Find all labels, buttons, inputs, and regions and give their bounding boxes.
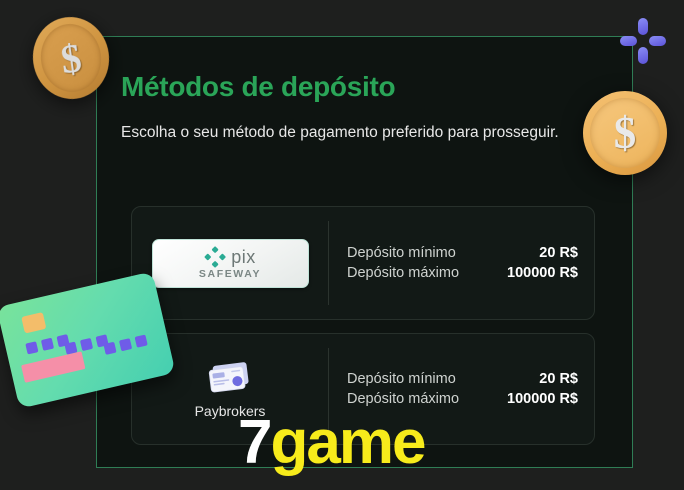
limit-value: 100000 R$: [507, 265, 578, 281]
payment-method-limits: Depósito mínimo 20 R$ Depósito máximo 10…: [347, 207, 578, 319]
limit-value: 20 R$: [539, 245, 578, 261]
sparkle-petal: [620, 36, 637, 46]
brand-watermark: 7 game: [238, 412, 424, 474]
limit-row: Depósito máximo 100000 R$: [347, 391, 578, 407]
sparkle-petal: [638, 18, 648, 35]
limit-row: Depósito mínimo 20 R$: [347, 371, 578, 387]
limit-label: Depósito máximo: [347, 265, 459, 281]
pix-safeway-logo: pix SAFEWAY: [152, 239, 309, 288]
payment-method-card-pix-safeway[interactable]: pix SAFEWAY Depósito mínimo 20 R$ Depósi…: [131, 206, 595, 320]
watermark-seven: 7: [238, 412, 270, 474]
deposit-methods-panel: Métodos de depósito Escolha o seu método…: [96, 36, 633, 468]
purple-plus-sparkle-icon: [620, 18, 666, 64]
limit-label: Depósito máximo: [347, 391, 459, 407]
card-digits-group: [64, 334, 108, 354]
limit-value: 20 R$: [539, 371, 578, 387]
payment-method-logo-area: pix SAFEWAY: [132, 207, 328, 319]
limit-label: Depósito mínimo: [347, 371, 456, 387]
watermark-game: game: [270, 412, 424, 474]
limit-label: Depósito mínimo: [347, 245, 456, 261]
card-stripe: [21, 351, 85, 382]
sparkle-petal: [649, 36, 666, 46]
pix-diamond-icon: [204, 246, 226, 268]
card-divider: [328, 221, 329, 305]
coin-dollar-symbol: $: [614, 107, 637, 159]
credit-card-icon: [206, 360, 254, 396]
page-subtitle: Escolha o seu método de pagamento prefer…: [121, 120, 566, 146]
card-digits-group: [25, 334, 69, 354]
limit-value: 100000 R$: [507, 391, 578, 407]
limit-row: Depósito máximo 100000 R$: [347, 265, 578, 281]
pix-wordmark: pix: [231, 248, 256, 266]
gold-coin-dollar-icon: $: [583, 91, 667, 175]
pix-logo-row: pix: [204, 246, 256, 268]
safeway-wordmark: SAFEWAY: [199, 269, 261, 280]
page-title: Métodos de depósito: [121, 71, 395, 103]
card-chip: [21, 312, 46, 334]
card-digits-group: [103, 335, 147, 355]
limit-row: Depósito mínimo 20 R$: [347, 245, 578, 261]
sparkle-petal: [638, 47, 648, 64]
